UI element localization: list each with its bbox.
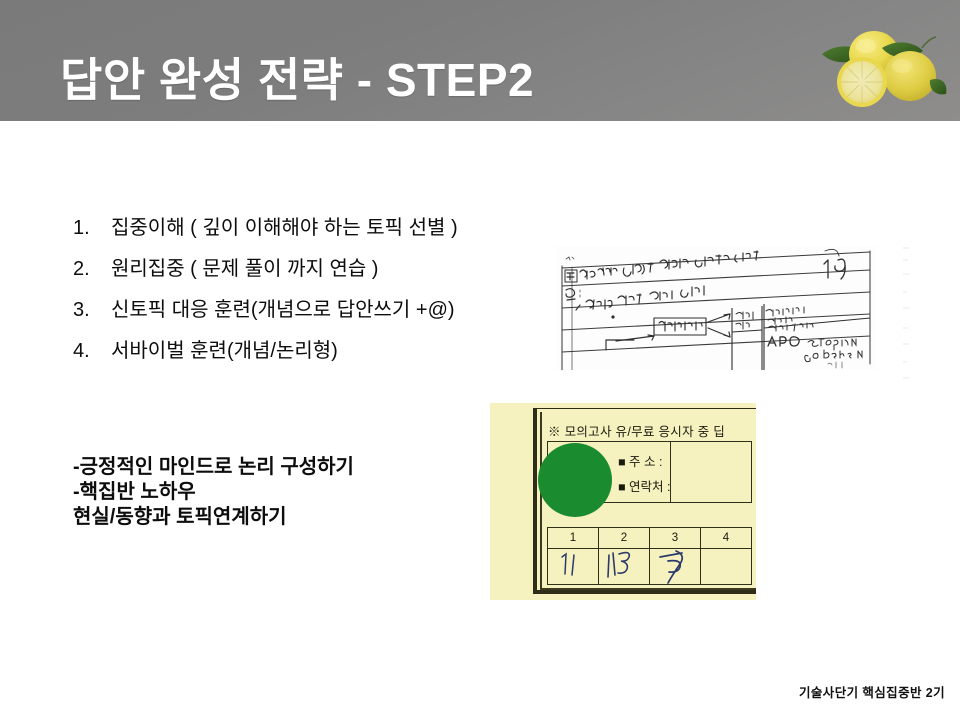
list-item-label: 집중이해 ( 깊이 이해해야 하는 토픽 선별 ) [111,218,458,238]
form-telephone-field-label: ■ 연락처 : [618,476,670,495]
table-cell [599,549,650,584]
table-header-cell: 1 [548,528,599,548]
list-item-number: 1. [73,218,111,238]
list-item-label: 원리집중 ( 문제 풀이 까지 연습 ) [111,259,378,279]
table-header-row: 1 2 3 4 [548,528,751,549]
form-header-note: ※ 모의고사 유/무료 응시자 중 딥 [548,421,725,440]
table-cell [650,549,701,584]
form-address-field-label: ■ 주 소 : [618,451,662,470]
green-redaction-circle [538,443,612,517]
page-title: 답안 완성 전략 - STEP2 [60,44,534,110]
faint-edge-marks [901,240,915,390]
list-item: 2. 원리집중 ( 문제 풀이 까지 연습 ) [73,259,543,279]
table-row [548,549,751,584]
note-line: -긍정적인 마인드로 논리 구성하기 [73,455,493,480]
list-item-number: 3. [73,300,111,320]
table-header-cell: 2 [599,528,650,548]
exam-application-form-photo: ※ 모의고사 유/무료 응시자 중 딥 락 처 ■ 주 소 : ■ 연락처 : … [490,403,756,600]
note-lines-block: -긍정적인 마인드로 논리 구성하기 -핵집반 노하우 현실/동향과 토픽연계하… [73,455,493,531]
leaf-icon [930,79,946,94]
form-answer-table: 1 2 3 4 [547,527,752,585]
handwritten-study-note-photo [556,246,876,370]
table-cell [701,549,751,584]
list-item: 3. 신토픽 대응 훈련(개념으로 답안쓰기 +@) [73,300,543,320]
list-item: 1. 집중이해 ( 깊이 이해해야 하는 토픽 선별 ) [73,218,543,238]
lemon-whole-front [884,51,936,101]
list-item-number: 4. [73,341,111,361]
table-header-cell: 4 [701,528,751,548]
note-line: 현실/동향과 토픽연계하기 [73,505,493,530]
presentation-slide: 답안 완성 전략 - STEP2 [0,0,960,720]
list-item-number: 2. [73,259,111,279]
slide-footer: 기술사단기 핵심집중반 2기 [799,682,945,701]
slide-header-band: 답안 완성 전략 - STEP2 [0,0,960,121]
list-item-label: 서바이벌 훈련(개념/논리형) [111,341,338,361]
note-line: -핵집반 노하우 [73,480,493,505]
lemon-cluster-icon [818,18,950,118]
list-item: 4. 서바이벌 훈련(개념/논리형) [73,341,543,361]
bullet-list: 1. 집중이해 ( 깊이 이해해야 하는 토픽 선별 ) 2. 원리집중 ( 문… [73,218,543,361]
list-item-label: 신토픽 대응 훈련(개념으로 답안쓰기 +@) [111,300,455,320]
table-cell [548,549,599,584]
